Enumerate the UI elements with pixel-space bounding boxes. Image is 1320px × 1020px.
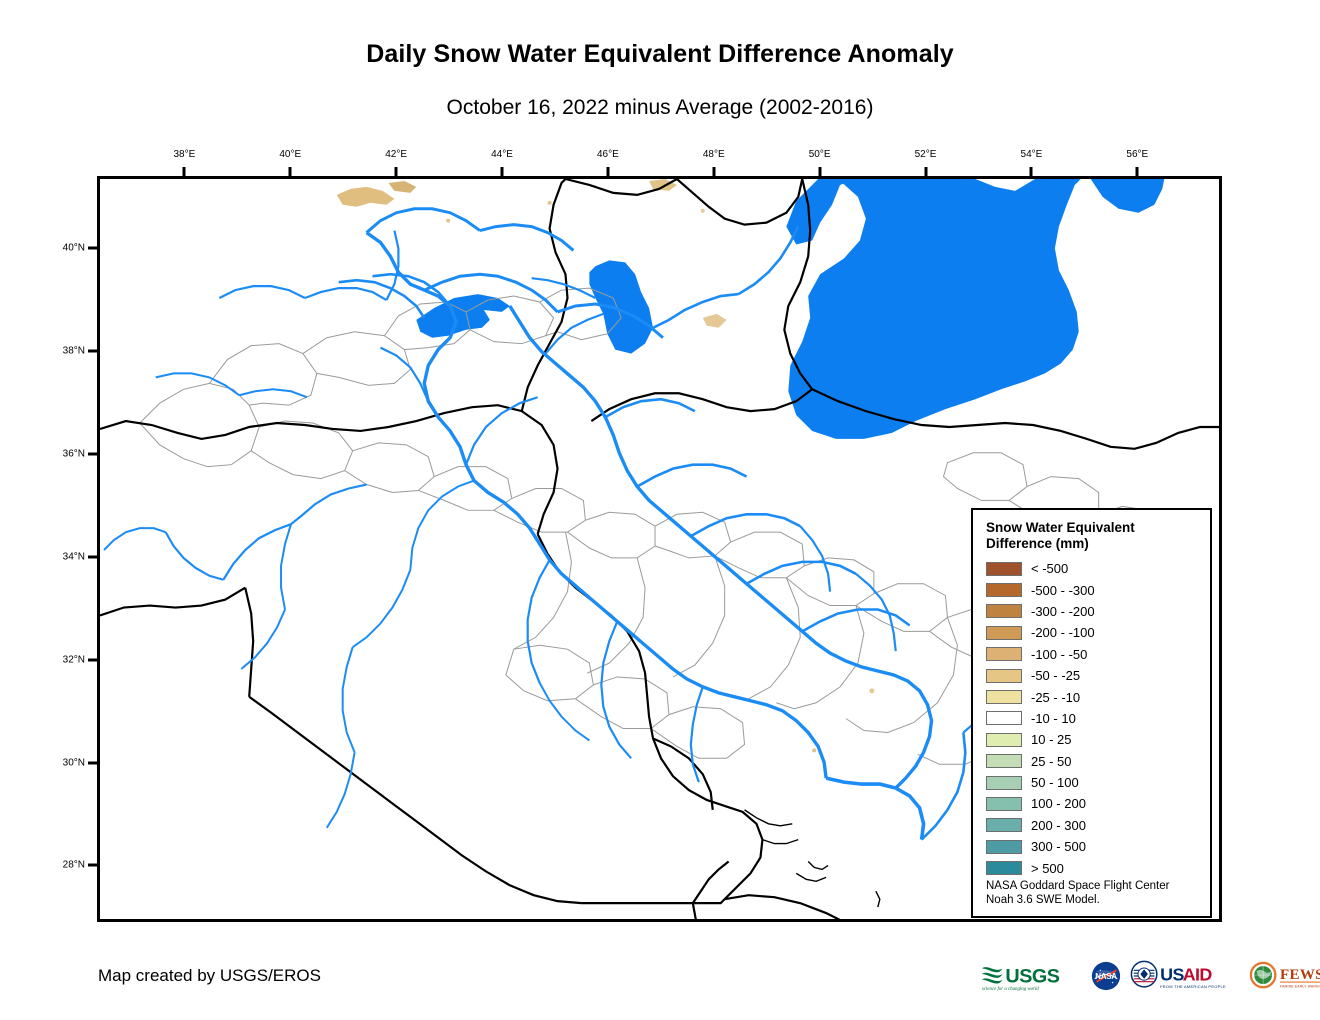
legend-source-line2: Noah 3.6 SWE Model. bbox=[986, 894, 1206, 908]
legend-label: < -500 bbox=[1031, 561, 1068, 576]
fewsnet-logo[interactable]: FEWS NET FAMINE EARLY WARNING SYSTEMS NE… bbox=[1249, 960, 1320, 992]
longitude-tick bbox=[501, 167, 504, 176]
legend-label: -100 - -50 bbox=[1031, 647, 1087, 662]
legend-swatch bbox=[986, 861, 1022, 875]
legend-label: -200 - -100 bbox=[1031, 625, 1095, 640]
legend-swatch bbox=[986, 818, 1022, 832]
legend-source-line1: NASA Goddard Space Flight Center bbox=[986, 880, 1206, 894]
usgs-logo[interactable]: USGS science for a changing world bbox=[980, 960, 1082, 992]
map-legend[interactable]: Snow Water Equivalent Difference (mm) < … bbox=[971, 508, 1212, 918]
svg-text:FAMINE EARLY WARNING SYSTEMS N: FAMINE EARLY WARNING SYSTEMS NETWORK bbox=[1280, 984, 1320, 988]
legend-swatch bbox=[986, 797, 1022, 811]
legend-swatch bbox=[986, 604, 1022, 618]
longitude-tick-label: 46°E bbox=[597, 149, 619, 160]
legend-row[interactable]: -50 - -25 bbox=[986, 665, 1201, 686]
legend-swatch bbox=[986, 669, 1022, 683]
latitude-tick bbox=[88, 658, 97, 661]
latitude-tick-label: 32°N bbox=[39, 654, 85, 665]
legend-title-line1: Snow Water Equivalent bbox=[986, 520, 1201, 536]
legend-label: > 500 bbox=[1031, 861, 1064, 876]
legend-swatch bbox=[986, 711, 1022, 725]
legend-label: 10 - 25 bbox=[1031, 732, 1071, 747]
svg-text:US: US bbox=[1160, 965, 1184, 985]
legend-items: < -500-500 - -300-300 - -200-200 - -100-… bbox=[986, 558, 1201, 879]
legend-row[interactable]: 300 - 500 bbox=[986, 836, 1201, 857]
legend-label: 300 - 500 bbox=[1031, 839, 1086, 854]
longitude-tick bbox=[924, 167, 927, 176]
svg-text:NASA: NASA bbox=[1095, 972, 1117, 981]
legend-label: 100 - 200 bbox=[1031, 796, 1086, 811]
legend-label: -25 - -10 bbox=[1031, 690, 1080, 705]
longitude-tick bbox=[395, 167, 398, 176]
longitude-tick-label: 44°E bbox=[491, 149, 513, 160]
latitude-tick bbox=[88, 349, 97, 352]
latitude-tick-label: 34°N bbox=[39, 551, 85, 562]
legend-title: Snow Water Equivalent Difference (mm) bbox=[986, 520, 1201, 552]
longitude-tick bbox=[1136, 167, 1139, 176]
latitude-tick bbox=[88, 452, 97, 455]
legend-row[interactable]: 10 - 25 bbox=[986, 729, 1201, 750]
legend-row[interactable]: < -500 bbox=[986, 558, 1201, 579]
latitude-tick-label: 28°N bbox=[39, 860, 85, 871]
logo-bar: USGS science for a changing world NASA U… bbox=[980, 958, 1320, 994]
legend-label: -10 - 10 bbox=[1031, 711, 1076, 726]
longitude-tick bbox=[1030, 167, 1033, 176]
svg-text:USGS: USGS bbox=[1005, 966, 1059, 988]
nasa-logo[interactable]: NASA bbox=[1090, 960, 1122, 992]
footer-credit: Map created by USGS/EROS bbox=[98, 966, 321, 986]
longitude-tick-label: 48°E bbox=[703, 149, 725, 160]
legend-title-line2: Difference (mm) bbox=[986, 536, 1201, 552]
longitude-tick bbox=[606, 167, 609, 176]
longitude-tick bbox=[818, 167, 821, 176]
legend-swatch bbox=[986, 733, 1022, 747]
latitude-tick-label: 38°N bbox=[39, 345, 85, 356]
longitude-tick-label: 54°E bbox=[1021, 149, 1043, 160]
latitude-tick bbox=[88, 555, 97, 558]
latitude-tick bbox=[88, 761, 97, 764]
legend-swatch bbox=[986, 626, 1022, 640]
longitude-tick bbox=[712, 167, 715, 176]
latitude-tick-label: 40°N bbox=[39, 243, 85, 254]
legend-row[interactable]: -500 - -300 bbox=[986, 579, 1201, 600]
legend-label: -300 - -200 bbox=[1031, 604, 1095, 619]
legend-row[interactable]: -100 - -50 bbox=[986, 644, 1201, 665]
latitude-tick-label: 36°N bbox=[39, 448, 85, 459]
legend-swatch bbox=[986, 754, 1022, 768]
legend-row[interactable]: 100 - 200 bbox=[986, 793, 1201, 814]
legend-swatch bbox=[986, 583, 1022, 597]
latitude-tick-label: 30°N bbox=[39, 757, 85, 768]
usaid-logo[interactable]: US AID FROM THE AMERICAN PEOPLE bbox=[1130, 960, 1241, 992]
page-subtitle: October 16, 2022 minus Average (2002-201… bbox=[0, 96, 1320, 120]
legend-row[interactable]: -25 - -10 bbox=[986, 686, 1201, 707]
legend-label: -50 - -25 bbox=[1031, 668, 1080, 683]
legend-row[interactable]: -10 - 10 bbox=[986, 708, 1201, 729]
legend-swatch bbox=[986, 647, 1022, 661]
svg-text:FEWS NET: FEWS NET bbox=[1280, 967, 1320, 983]
longitude-tick-label: 52°E bbox=[915, 149, 937, 160]
longitude-tick-label: 42°E bbox=[385, 149, 407, 160]
legend-label: 25 - 50 bbox=[1031, 754, 1071, 769]
legend-row[interactable]: 50 - 100 bbox=[986, 772, 1201, 793]
legend-label: 200 - 300 bbox=[1031, 818, 1086, 833]
legend-row[interactable]: > 500 bbox=[986, 857, 1201, 878]
latitude-tick bbox=[88, 247, 97, 250]
legend-row[interactable]: 25 - 50 bbox=[986, 751, 1201, 772]
legend-swatch bbox=[986, 562, 1022, 576]
legend-row[interactable]: -300 - -200 bbox=[986, 601, 1201, 622]
svg-text:AID: AID bbox=[1182, 965, 1212, 985]
legend-swatch bbox=[986, 776, 1022, 790]
legend-label: 50 - 100 bbox=[1031, 775, 1079, 790]
legend-source: NASA Goddard Space Flight Center Noah 3.… bbox=[986, 880, 1206, 907]
longitude-tick-label: 50°E bbox=[809, 149, 831, 160]
legend-row[interactable]: 200 - 300 bbox=[986, 815, 1201, 836]
longitude-tick-label: 40°E bbox=[279, 149, 301, 160]
longitude-tick-label: 56°E bbox=[1126, 149, 1148, 160]
svg-text:science for a changing world: science for a changing world bbox=[982, 987, 1039, 992]
page-title: Daily Snow Water Equivalent Difference A… bbox=[0, 40, 1320, 69]
latitude-tick bbox=[88, 864, 97, 867]
longitude-tick bbox=[289, 167, 292, 176]
legend-label: -500 - -300 bbox=[1031, 583, 1095, 598]
legend-swatch bbox=[986, 840, 1022, 854]
longitude-tick bbox=[183, 167, 186, 176]
legend-row[interactable]: -200 - -100 bbox=[986, 622, 1201, 643]
legend-swatch bbox=[986, 690, 1022, 704]
svg-text:FROM THE AMERICAN PEOPLE: FROM THE AMERICAN PEOPLE bbox=[1160, 984, 1226, 989]
longitude-tick-label: 38°E bbox=[173, 149, 195, 160]
